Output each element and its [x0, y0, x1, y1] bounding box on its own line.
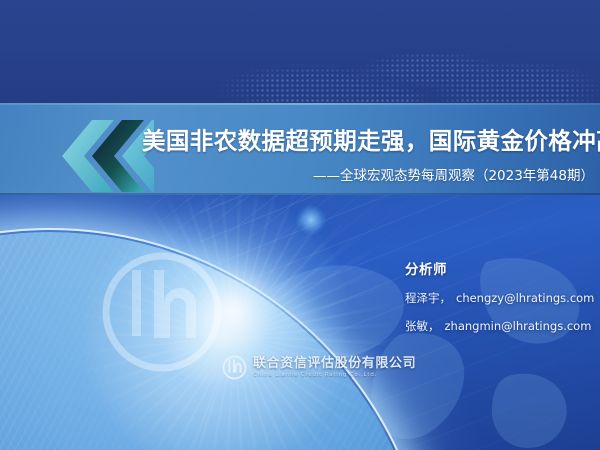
- lh-monogram-icon: [222, 355, 247, 380]
- triple-chevron-left-icon: [62, 118, 154, 194]
- analyst-name: 程泽宇，: [405, 291, 451, 305]
- lens-flare: [296, 205, 326, 235]
- analyst-name: 张敏，: [405, 319, 440, 333]
- company-name-cn: 联合资信评估股份有限公司: [253, 357, 416, 370]
- company-name-en: China Lianhe Credit Rating Co.,Ltd.: [253, 373, 416, 378]
- company-logo: 联合资信评估股份有限公司 China Lianhe Credit Rating …: [222, 355, 416, 380]
- company-logo-text: 联合资信评估股份有限公司 China Lianhe Credit Rating …: [253, 357, 416, 378]
- page-subtitle: ——全球宏观态势每周观察（2023年第48期）: [142, 166, 594, 186]
- analyst-row: 张敏，zhangmin@lhratings.com: [405, 318, 591, 334]
- analyst-email[interactable]: chengzy@lhratings.com: [456, 291, 594, 305]
- analyst-email[interactable]: zhangmin@lhratings.com: [445, 319, 592, 333]
- analyst-heading: 分析师: [405, 258, 447, 278]
- analyst-row: 程泽宇，chengzy@lhratings.com: [405, 290, 594, 306]
- presentation-slide: 美国非农数据超预期走强，国际黄金价格冲高回落 ——全球宏观态势每周观察（2023…: [0, 0, 600, 450]
- page-title: 美国非农数据超预期走强，国际黄金价格冲高回落: [142, 126, 590, 156]
- lh-watermark-icon: [98, 248, 226, 376]
- title-band-top-edge: [0, 103, 600, 105]
